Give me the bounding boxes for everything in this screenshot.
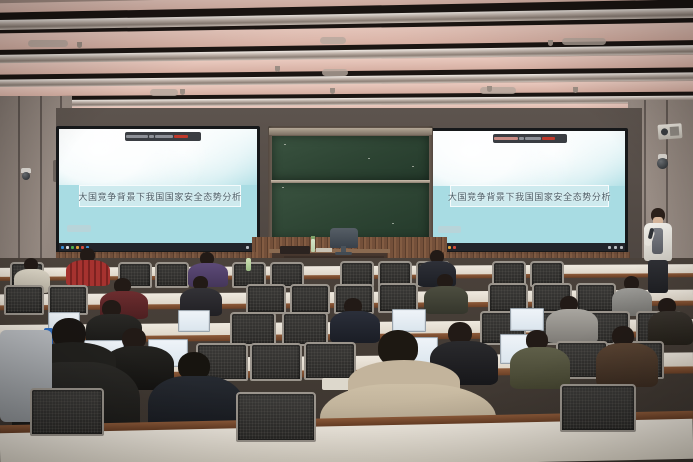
ceiling-vent: [150, 89, 178, 96]
seat[interactable]: [246, 284, 286, 314]
sprinkler-head: [275, 66, 280, 72]
ceiling-projector: [658, 123, 683, 140]
ceiling-vent: [480, 87, 516, 94]
seat[interactable]: [290, 284, 330, 314]
right-screen[interactable]: 大国竞争背景下我国国家安全态势分析: [431, 131, 625, 251]
paper-pad: [316, 248, 332, 252]
sprinkler-head: [330, 88, 335, 94]
left-dome-camera: [20, 168, 32, 182]
right-screen-frame: 大国竞争背景下我国国家安全态势分析: [428, 128, 628, 254]
seat[interactable]: [250, 343, 302, 381]
water-bottle-cap: [311, 236, 315, 239]
system-tray[interactable]: [606, 246, 623, 249]
ceiling-vent: [562, 38, 606, 45]
right-screen-taskbar[interactable]: [431, 243, 625, 251]
water-bottle: [311, 239, 315, 252]
lectern-monitor: [330, 228, 358, 248]
chalkboard-top-rail: [269, 128, 432, 135]
browser-icon[interactable]: [76, 246, 79, 249]
mail-icon[interactable]: [453, 246, 456, 249]
water-bottle: [246, 258, 251, 271]
presentation-floating-toolbar[interactable]: [125, 132, 201, 141]
seat[interactable]: [4, 285, 44, 315]
presentation-floating-toolbar[interactable]: [493, 134, 567, 143]
ceiling-vent: [322, 69, 348, 76]
lecture-hall-photo: 大国竞争背景下我国国家安全态势分析: [0, 0, 693, 462]
seat[interactable]: [48, 285, 88, 315]
seat[interactable]: [282, 312, 328, 346]
left-screen-frame: 大国竞争背景下我国国家安全态势分析: [56, 126, 260, 254]
explorer-icon[interactable]: [71, 246, 74, 249]
sprinkler-head: [573, 87, 578, 93]
ceiling-vent: [28, 40, 68, 47]
left-screen[interactable]: 大国竞争背景下我国国家安全态势分析: [59, 129, 257, 251]
monitor-stand-base: [335, 252, 352, 255]
sprinkler-head: [77, 42, 82, 48]
slide-title-box: 大国竞争背景下我国国家安全态势分析: [79, 185, 241, 207]
right-dome-camera: [656, 154, 669, 170]
presenter-pants: [648, 260, 668, 293]
sprinkler-head: [487, 86, 492, 92]
search-icon[interactable]: [66, 246, 69, 249]
start-icon[interactable]: [61, 246, 64, 249]
seat[interactable]: [236, 392, 316, 442]
slide-title-box: 大国竞争背景下我国国家安全态势分析: [450, 185, 609, 207]
keyboard-tray: [280, 246, 310, 254]
laptop[interactable]: [178, 310, 210, 332]
minimized-window-chip[interactable]: [67, 225, 91, 232]
seat[interactable]: [560, 384, 636, 432]
seat[interactable]: [230, 312, 276, 346]
slide-title-text: 大国竞争背景下我国国家安全态势分析: [448, 190, 611, 203]
seat[interactable]: [155, 262, 189, 288]
ceiling-vent: [320, 37, 346, 44]
laptop[interactable]: [392, 309, 426, 332]
chalkboard-upper-pane: [272, 136, 429, 180]
sprinkler-head: [548, 40, 553, 46]
browser-icon[interactable]: [448, 246, 451, 249]
seat[interactable]: [304, 342, 356, 380]
minimized-window-chip[interactable]: [438, 226, 461, 233]
slide-title-text: 大国竞争背景下我国国家安全态势分析: [78, 190, 241, 203]
laptop[interactable]: [510, 308, 544, 331]
seat[interactable]: [30, 388, 104, 436]
sprinkler-head: [180, 89, 185, 95]
